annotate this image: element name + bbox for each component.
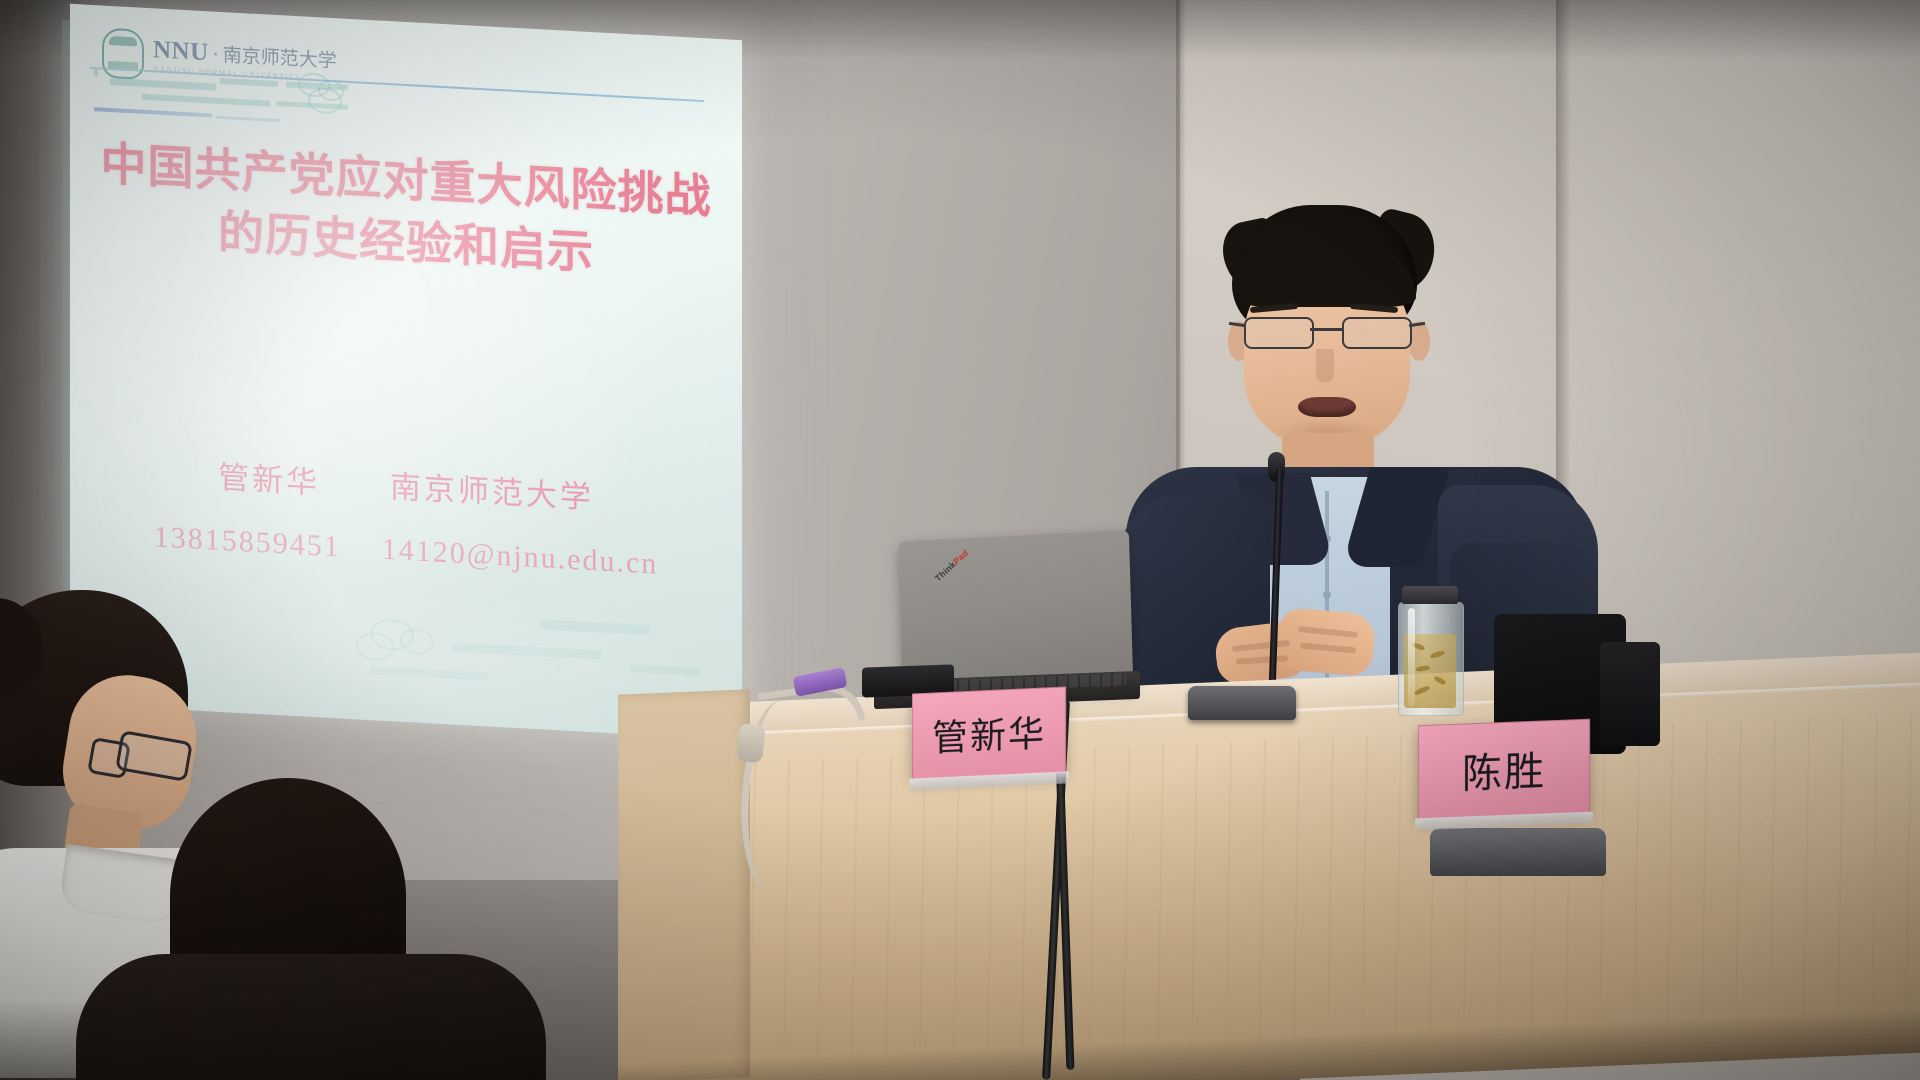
spacer [333,494,377,496]
cable-ferrite-bead [736,723,766,764]
tea-bottle [1396,586,1464,714]
slide-title: 中国共产党应对重大风险挑战 的历史经验和启示 [70,132,742,292]
lens [1342,317,1412,349]
placard-name: 陈胜 [1462,738,1546,799]
author-name: 管新华 [218,460,320,502]
decor-bar [142,94,270,107]
name-placard: 陈胜 [1418,719,1590,820]
institution-separator: · [213,46,219,65]
torso [76,954,546,1080]
spacer [350,557,372,558]
header-rule-accent [94,107,212,117]
lecture-scene: NNU · 南京师范大学 NANJING NORMAL UNIVERSITY [0,0,1920,1080]
placard-name: 管新华 [932,704,1046,761]
hair-fringe [1238,249,1416,307]
name-placard: 管新华 [912,687,1066,780]
university-seal-icon [102,28,144,80]
hand [1275,607,1376,677]
mouth [1298,397,1356,417]
logo-accent-dot [94,69,98,76]
microphone-base: D-Link [1188,686,1296,720]
nose [1316,349,1334,383]
lens [1244,317,1314,349]
slide-author-line: 管新华 南京师范大学 [70,444,742,525]
shirt-button [1323,591,1331,599]
contact-email: 14120@njnu.edu.cn [382,533,659,581]
audience-person-secondary [86,778,556,1080]
wireless-mic-base: D-Link [1430,828,1606,876]
bottle-highlight [1408,608,1415,706]
eyeglasses-icon [1238,317,1416,347]
table-wood-grain [618,713,1920,1068]
author-affiliation: 南京师范大学 [390,469,594,516]
header-rule-accent [216,116,280,122]
institution-name-cn: 南京师范大学 [223,46,337,71]
chair-armrest [1600,642,1660,746]
table-side-panel [618,689,750,1080]
thinkpad-logo: ThinkPad [933,548,970,584]
bottle-lid [1402,586,1458,604]
institution-abbr: NNU [153,38,209,66]
conference-table [618,680,1920,1080]
glasses-bridge [1310,328,1342,331]
contact-phone: 13815859451 [154,520,341,563]
